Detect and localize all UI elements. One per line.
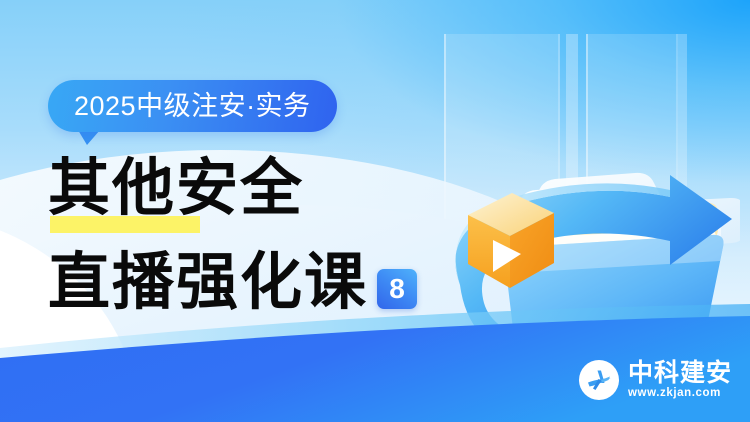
episode-badge: 8 [377,269,417,309]
title-block: 其他安全 直播强化课 8 [48,152,417,318]
brand-name: 中科建安 [628,361,732,386]
tag-pill-label: 2025中级注安·实务 [74,93,311,120]
brand-logo: 中科建安 www.zkjan.com [579,360,732,400]
course-banner: 2025中级注安·实务 其他安全 直播强化课 8 中科建安 www.zkjan.… [0,0,750,422]
tag-pill: 2025中级注安·实务 [48,80,337,132]
title-line-1-text: 其他安全 [48,152,304,224]
title-line-2-text: 直播强化课 [48,246,368,318]
title-line-2: 直播强化课 8 [48,246,417,318]
title-line-1: 其他安全 [48,152,417,224]
tag-pill-tail [78,130,100,145]
zkjan-logo-icon [579,360,619,400]
brand-text: 中科建安 www.zkjan.com [628,361,732,400]
brand-url: www.zkjan.com [628,388,732,400]
